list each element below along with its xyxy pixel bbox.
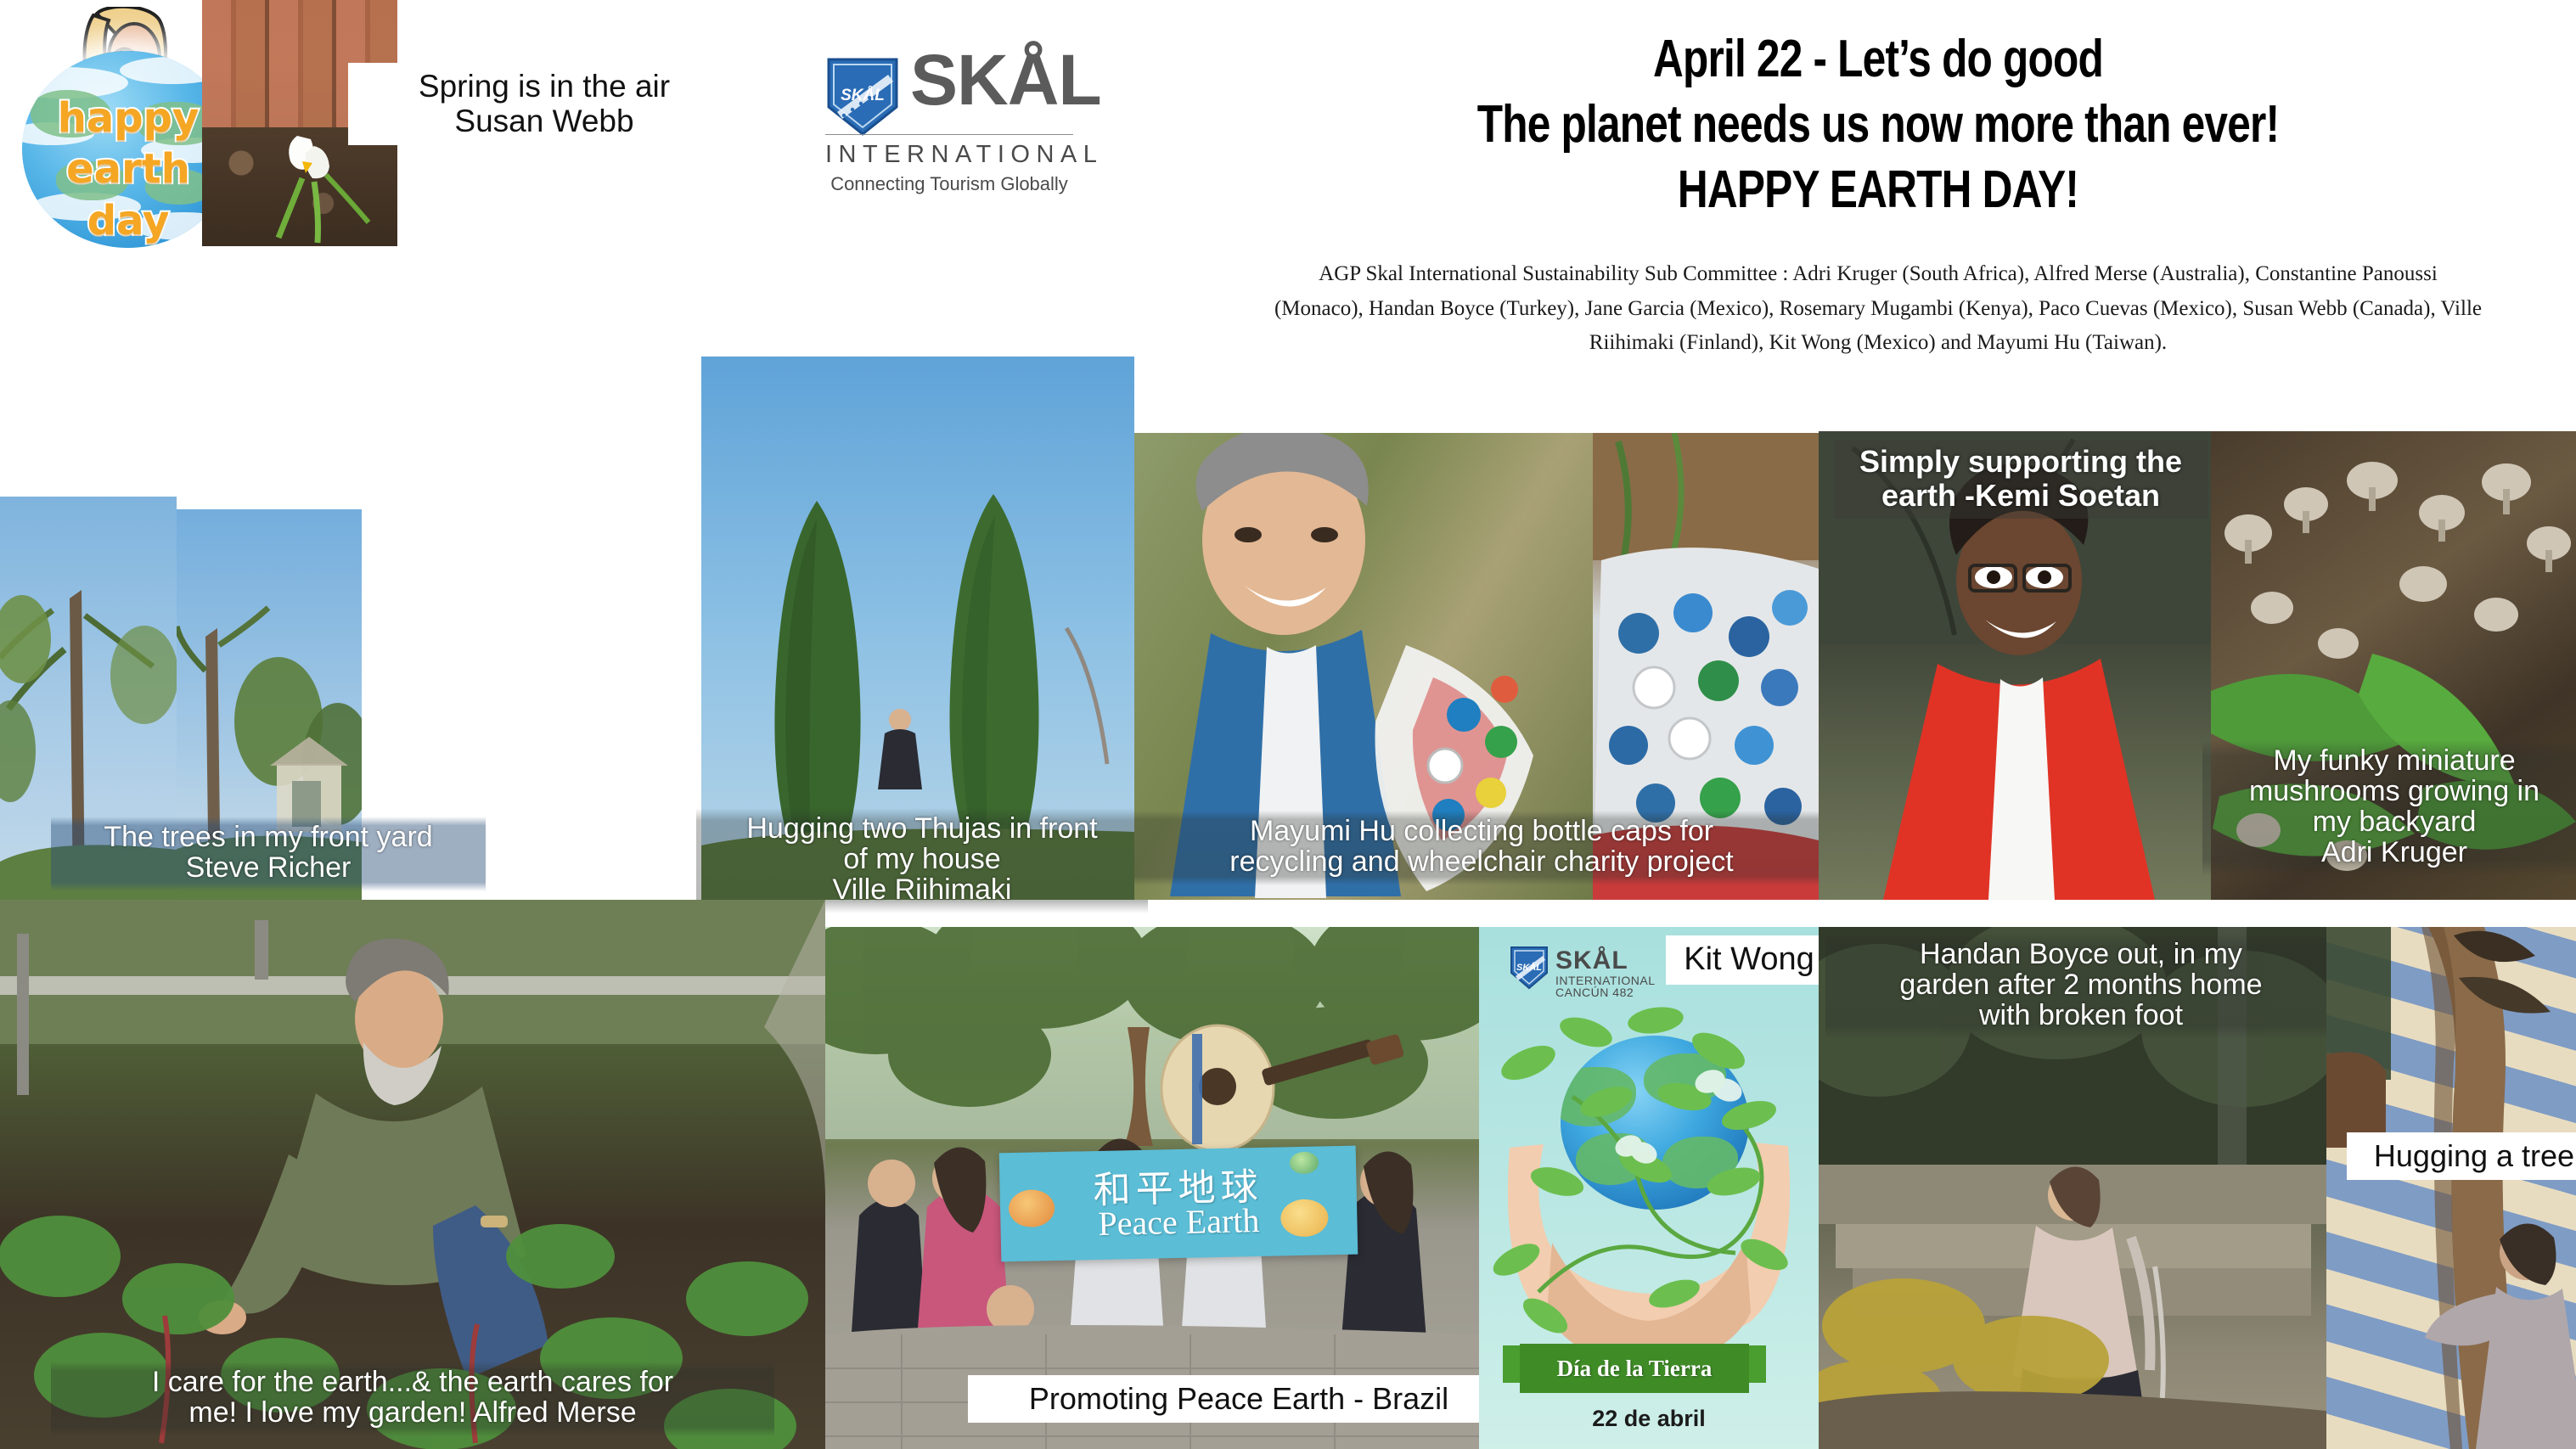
photo-hugging-a-tree (2326, 927, 2576, 1449)
peace-banner-english: Peace Earth (1000, 1199, 1358, 1246)
poster-ribbon-band: Día de la Tierra (1520, 1344, 1749, 1393)
skal-international-label: INTERNATIONAL (825, 141, 1073, 169)
caption-hugging-a-tree: Hugging a tree (2347, 1132, 2576, 1180)
photo-peace-earth-brazil: 和平地球 Peace Earth (825, 927, 1479, 1449)
peace-earth-banner: 和平地球 Peace Earth (999, 1146, 1358, 1262)
headline-april-22: April 22 - Let’s do good (1319, 29, 2436, 89)
caption-alfred-merse: I care for the earth...& the earth cares… (51, 1362, 774, 1436)
earth-day-collage-poster: happy earth day Spring is in the air Sus… (0, 0, 2576, 1449)
caption-spring-susan-webb: Spring is in the air Susan Webb (348, 63, 740, 145)
caption-mayumi-hu: Mayumi Hu collecting bottle caps for rec… (1134, 811, 1829, 885)
skal-international-logo: SKÅL SKÅL INTERNATIONAL Connecting Touri… (825, 41, 1165, 211)
caption-trees-steve-richer: The trees in my front yard Steve Richer (51, 817, 486, 891)
headline-planet-needs-us: The planet needs us now more than ever! (1319, 94, 2436, 154)
tree-and-person-graphic (2326, 927, 2576, 1449)
caption-peace-earth-brazil: Promoting Peace Earth - Brazil (968, 1375, 1510, 1423)
person-between-trees (878, 709, 922, 789)
svg-text:SKÅL: SKÅL (841, 87, 885, 104)
committee-members-note: AGP Skal International Sustainability Su… (1272, 257, 2484, 361)
caption-kit-wong: Kit Wong (1666, 935, 1832, 985)
poster-date-label: 22 de abril (1479, 1406, 1819, 1432)
poster-ribbon-label: Día de la Tierra (1557, 1356, 1713, 1382)
caption-handan-boyce: Handan Boyce out, in my garden after 2 m… (1825, 934, 2337, 1039)
headline-happy-earth-day: HAPPY EARTH DAY! (1319, 160, 2436, 220)
header-text-block: April 22 - Let’s do good The planet need… (1180, 0, 2576, 424)
caption-mushrooms-adri-kruger: My funky miniature mushrooms growing in … (2202, 740, 2576, 876)
skal-divider-rule (825, 134, 1073, 135)
caption-thujas-ville-riihimaki: Hugging two Thujas in front of my house … (696, 808, 1148, 913)
poster-dia-de-la-tierra-kit-wong: SKÅL SKÅL INTERNATIONAL CANCÚN 482 (1479, 927, 1819, 1449)
caption-kemi-soetan: Simply supporting the earth -Kemi Soetan (1834, 440, 2208, 519)
skal-wordmark: SKÅL (910, 44, 1101, 115)
skal-shield-icon: SKÅL (825, 56, 900, 138)
skal-tagline: Connecting Tourism Globally (825, 173, 1073, 195)
